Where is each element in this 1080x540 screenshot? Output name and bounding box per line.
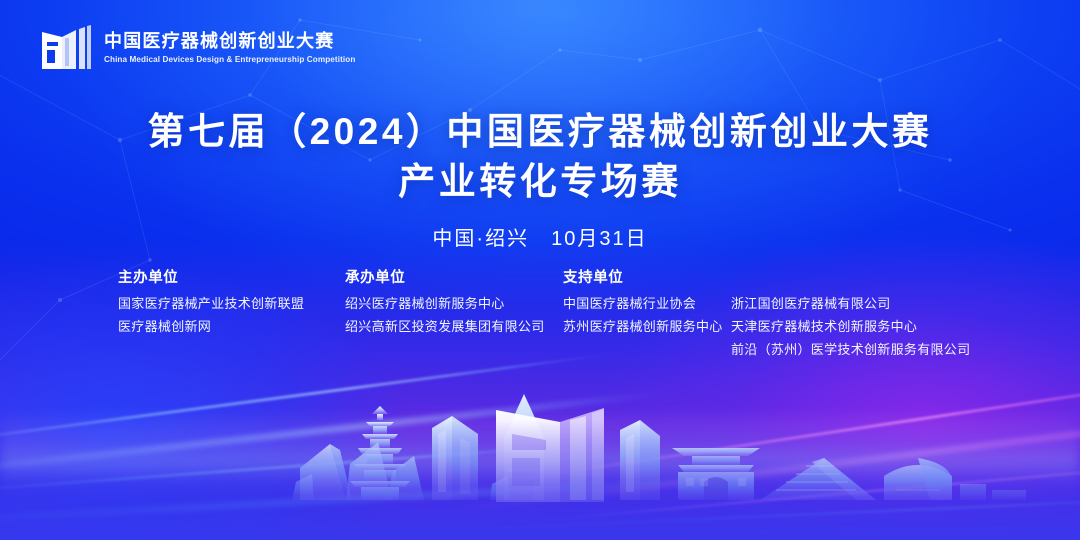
credits-item: 浙江国创医疗器械有限公司 bbox=[731, 292, 991, 315]
bottom-fade bbox=[0, 420, 1080, 540]
brand-name-en: China Medical Devices Design & Entrepren… bbox=[104, 54, 355, 65]
credits-item: 国家医疗器械产业技术创新联盟 bbox=[118, 292, 345, 315]
credits-item: 医疗器械创新网 bbox=[118, 315, 345, 338]
competition-open-book-mark bbox=[40, 24, 92, 72]
credits-item: 苏州医疗器械创新服务中心 bbox=[563, 315, 731, 338]
credits-item: 绍兴高新区投资发展集团有限公司 bbox=[345, 315, 563, 338]
brand-logo: 中国医疗器械创新创业大赛 China Medical Devices Desig… bbox=[40, 24, 366, 72]
event-title-line-2: 产业转化专场赛 bbox=[0, 158, 1080, 206]
credits-column-organizer: 承办单位 绍兴医疗器械创新服务中心 绍兴高新区投资发展集团有限公司 bbox=[345, 265, 563, 338]
brand-name-cn: 中国医疗器械创新创业大赛 bbox=[104, 31, 366, 52]
event-location-date: 中国·绍兴 10月31日 bbox=[0, 222, 1080, 251]
credits-item: 绍兴医疗器械创新服务中心 bbox=[345, 292, 563, 315]
credits-block: 主办单位 国家医疗器械产业技术创新联盟 医疗器械创新网 承办单位 绍兴医疗器械创… bbox=[118, 265, 991, 361]
credits-heading-host: 主办单位 bbox=[118, 265, 345, 292]
credits-column-supporter-extra: 浙江国创医疗器械有限公司 天津医疗器械技术创新服务中心 前沿（苏州）医学技术创新… bbox=[731, 265, 991, 361]
event-poster: 中国医疗器械创新创业大赛 China Medical Devices Desig… bbox=[0, 0, 1080, 540]
credits-heading-supporter: 支持单位 bbox=[563, 265, 731, 292]
credits-item: 中国医疗器械行业协会 bbox=[563, 292, 731, 315]
credits-column-host: 主办单位 国家医疗器械产业技术创新联盟 医疗器械创新网 bbox=[118, 265, 345, 338]
credits-item: 前沿（苏州）医学技术创新服务有限公司 bbox=[731, 338, 991, 361]
credits-item: 天津医疗器械技术创新服务中心 bbox=[731, 315, 991, 338]
event-title-line-1: 第七届（2024）中国医疗器械创新创业大赛 bbox=[0, 108, 1080, 156]
credits-column-supporter: 支持单位 中国医疗器械行业协会 苏州医疗器械创新服务中心 bbox=[563, 265, 731, 338]
credits-heading-organizer: 承办单位 bbox=[345, 265, 563, 292]
headline-block: 第七届（2024）中国医疗器械创新创业大赛 产业转化专场赛 中国·绍兴 10月3… bbox=[0, 108, 1080, 251]
